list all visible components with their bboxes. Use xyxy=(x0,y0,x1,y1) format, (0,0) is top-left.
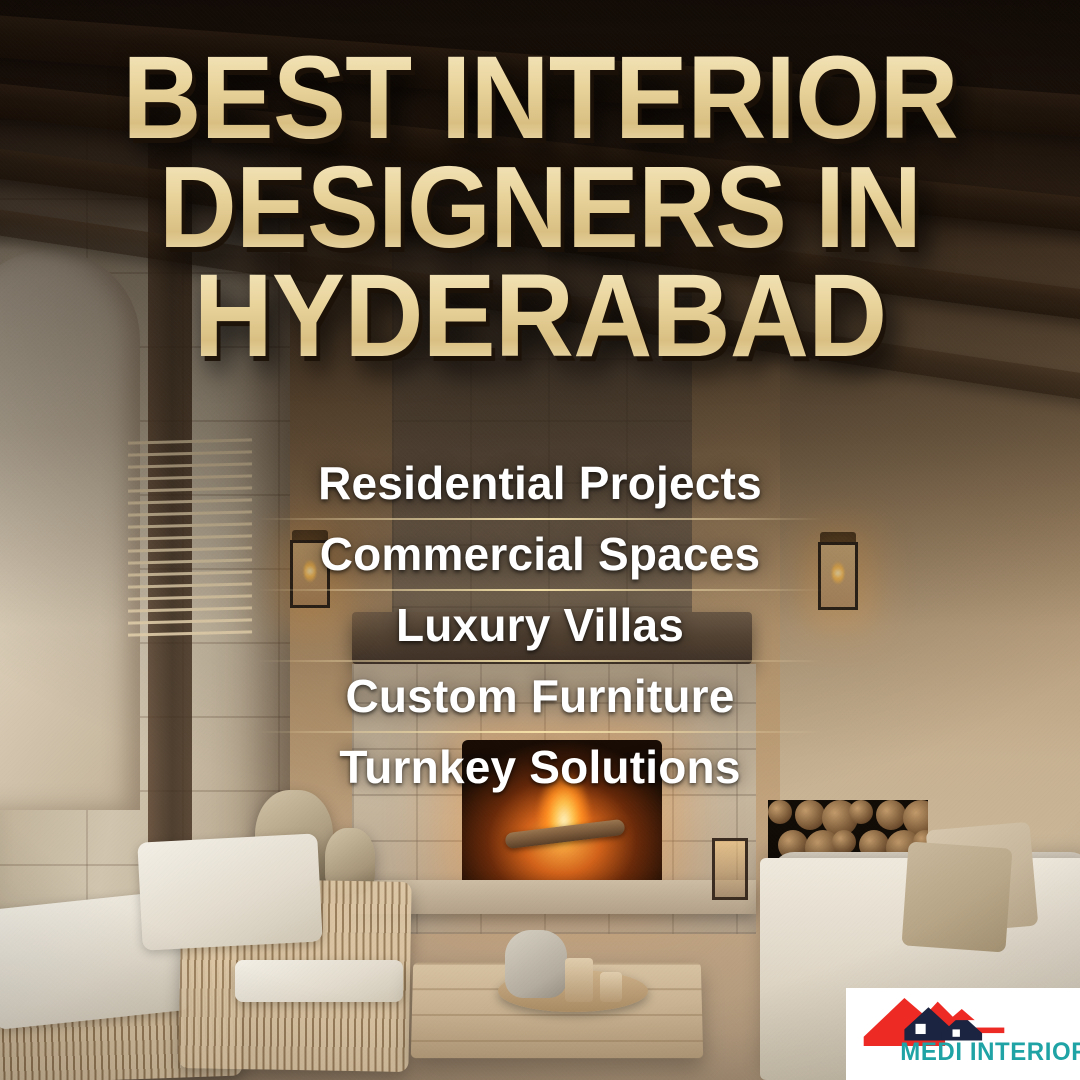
services-list: Residential Projects Commercial Spaces L… xyxy=(0,452,1080,799)
brand-logo-badge[interactable]: MEDI INTERIORS xyxy=(846,988,1080,1080)
headline-line-3: HYDERABAD xyxy=(38,262,1042,372)
service-item: Luxury Villas xyxy=(0,594,1080,657)
chair-cushion xyxy=(137,833,322,950)
brand-name-text: MEDI INTERIORS xyxy=(900,1038,1080,1067)
sofa-pillow xyxy=(901,841,1012,952)
ceramic-vase xyxy=(505,930,567,998)
service-divider xyxy=(257,518,823,520)
service-item: Residential Projects xyxy=(0,452,1080,515)
pillar-candle xyxy=(600,972,622,1002)
hearth-ledge xyxy=(352,880,756,914)
poster-canvas: BEST INTERIOR DESIGNERS IN HYDERABAD Res… xyxy=(0,0,1080,1080)
page-title: BEST INTERIOR DESIGNERS IN HYDERABAD xyxy=(0,44,1080,371)
service-item: Turnkey Solutions xyxy=(0,736,1080,799)
service-divider xyxy=(257,660,823,662)
pillar-candle xyxy=(565,958,593,1002)
service-divider xyxy=(257,731,823,733)
headline-line-1: BEST INTERIOR xyxy=(38,44,1042,154)
service-item: Commercial Spaces xyxy=(0,523,1080,586)
chair-seat-cushion xyxy=(235,960,403,1002)
hearth-lantern-icon xyxy=(712,838,748,900)
service-item: Custom Furniture xyxy=(0,665,1080,728)
service-divider xyxy=(257,589,823,591)
headline-line-2: DESIGNERS IN xyxy=(38,154,1042,262)
